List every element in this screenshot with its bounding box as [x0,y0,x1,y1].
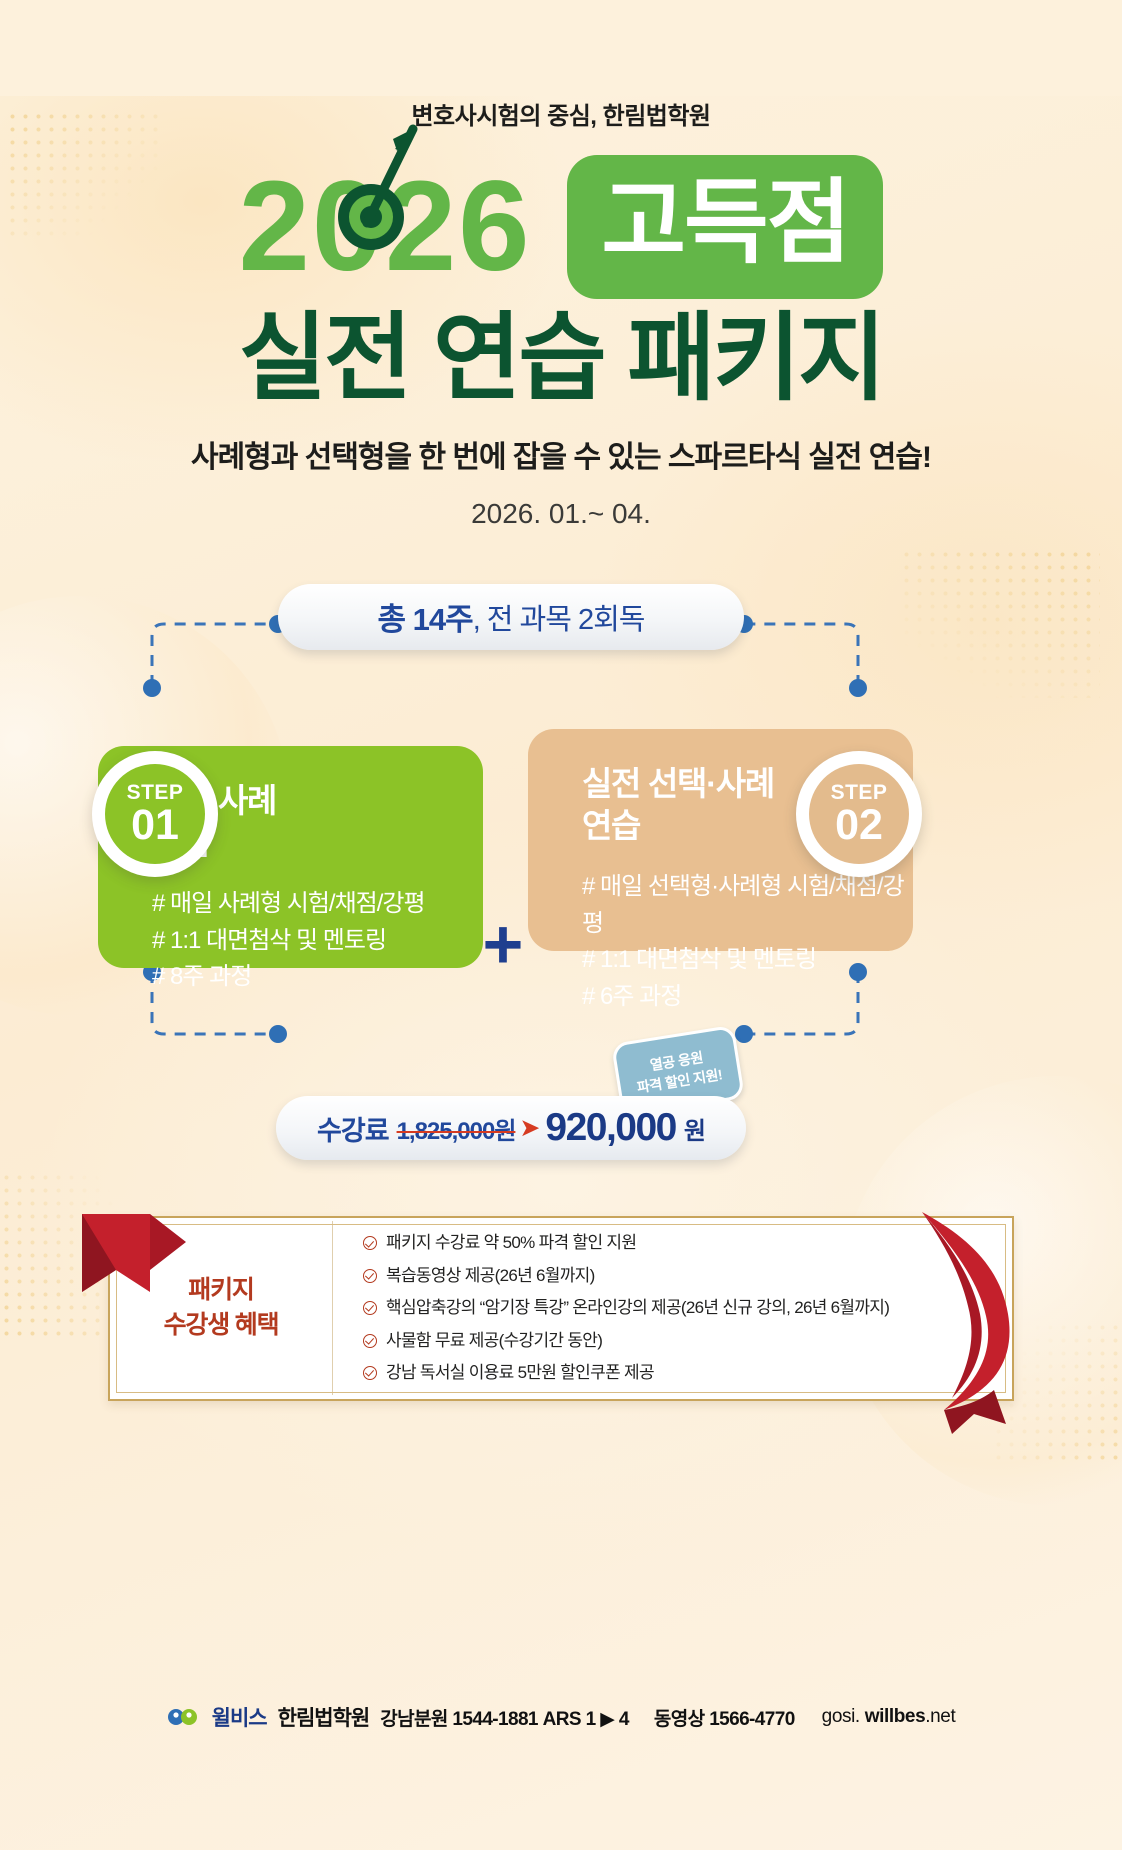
step-badge-02-number: 02 [835,804,883,847]
date-range: 2026. 01.~ 04. [0,498,1122,530]
footer-website[interactable]: gosi. willbes.net [822,1706,956,1728]
site-suffix: .net [925,1706,955,1727]
tagline: 사례형과 선택형을 한 번에 잡을 수 있는 스파르타식 실전 연습! [0,432,1122,476]
price-discounted: 920,000 [545,1106,675,1150]
step-badge-01-label: STEP [127,782,184,803]
check-circle-icon [363,1269,377,1283]
ribbon-right-icon [896,1210,1066,1440]
list-item: # 6주 과정 [582,979,913,1015]
step-badge-02-inner: STEP 02 [809,764,909,864]
benefit-text: 강남 독서실 이용료 5만원 할인쿠폰 제공 [386,1362,654,1384]
step-badge-01-number: 01 [131,804,179,847]
brand-line: 변호사시험의 중심, 한림법학원 [0,96,1122,131]
benefits-box: 패키지수강생 혜택 패키지 수강료 약 50% 파격 할인 지원 복습동영상 제… [108,1216,1014,1401]
benefits-section: 패키지수강생 혜택 패키지 수강료 약 50% 파격 할인 지원 복습동영상 제… [0,1216,1122,1431]
duration-weeks: 총 14주 [378,594,473,639]
list-item: # 매일 선택형·사례형 시험/채점/강평 [582,869,913,942]
poster: 변호사시험의 중심, 한림법학원 2026 고득점 실전 연습 패키지 사례형과… [0,96,1122,1850]
step-badge-01-inner: STEP 01 [105,764,205,864]
step-badge-02-label: STEP [831,782,888,803]
arrow-right-icon: ➤ [519,1113,540,1143]
check-circle-icon [363,1334,377,1348]
site-bold: willbes [865,1706,926,1727]
willbes-logo-icon [167,1704,201,1730]
title-row-secondary: 실전 연습 패키지 [0,309,1122,410]
price-currency: 원 [684,1111,705,1146]
highlight-pill: 고득점 [567,155,883,299]
check-circle-icon [363,1366,377,1380]
step-02-bullets: # 매일 선택형·사례형 시험/채점/강평 # 1:1 대면첨삭 및 멘토링 #… [582,869,913,1015]
footer-phone: 강남분원 1544-1881 ARS 1 ▶ 4 [380,1704,629,1731]
footer-hanlim: 한림법학원 [278,1702,370,1732]
benefits-inner: 패키지수강생 혜택 패키지 수강료 약 50% 파격 할인 지원 복습동영상 제… [110,1218,1012,1399]
benefit-text: 사물함 무료 제공(수강기간 동안) [386,1330,602,1352]
footer-video-phone: 동영상 1566-4770 [654,1704,795,1731]
benefit-text: 핵심압축강의 “암기장 특강” 온라인강의 제공(26년 신규 강의, 26년 … [386,1297,889,1319]
year-text: 2026 [239,163,532,291]
benefit-text: 복습동영상 제공(26년 6월까지) [386,1265,595,1287]
check-circle-icon [363,1236,377,1250]
price-original: 1,825,000원 [397,1111,516,1146]
title-row-primary: 2026 고득점 [0,155,1122,299]
duration-rest: , 전 과목 2회독 [473,596,645,638]
list-item: # 매일 사례형 시험/채점/강평 [152,886,483,922]
step-badge-01: STEP 01 [92,751,218,877]
step-badge-02: STEP 02 [796,751,922,877]
footer-willbes: 윌비스 [212,1702,267,1732]
year-value: 2026 [239,155,532,298]
price-bar: 수강료 1,825,000원 ➤ 920,000 원 [276,1096,746,1160]
list-item: # 8주 과정 [152,959,483,995]
benefit-text: 패키지 수강료 약 50% 파격 할인 지원 [386,1232,636,1254]
list-item: # 1:1 대면첨삭 및 멘토링 [152,923,483,959]
footer-contact-bar: 윌비스 한림법학원 강남분원 1544-1881 ARS 1 ▶ 4 동영상 1… [0,1702,1122,1732]
step-01-bullets: # 매일 사례형 시험/채점/강평 # 1:1 대면첨삭 및 멘토링 # 8주 … [152,886,483,995]
duration-summary-bar: 총 14주, 전 과목 2회독 [278,584,744,650]
site-prefix: gosi. [822,1706,865,1727]
plus-icon: + [472,916,534,978]
list-item: # 1:1 대면첨삭 및 멘토링 [582,942,913,978]
price-label: 수강료 [317,1109,389,1148]
check-circle-icon [363,1301,377,1315]
ribbon-left-icon [74,1206,194,1416]
